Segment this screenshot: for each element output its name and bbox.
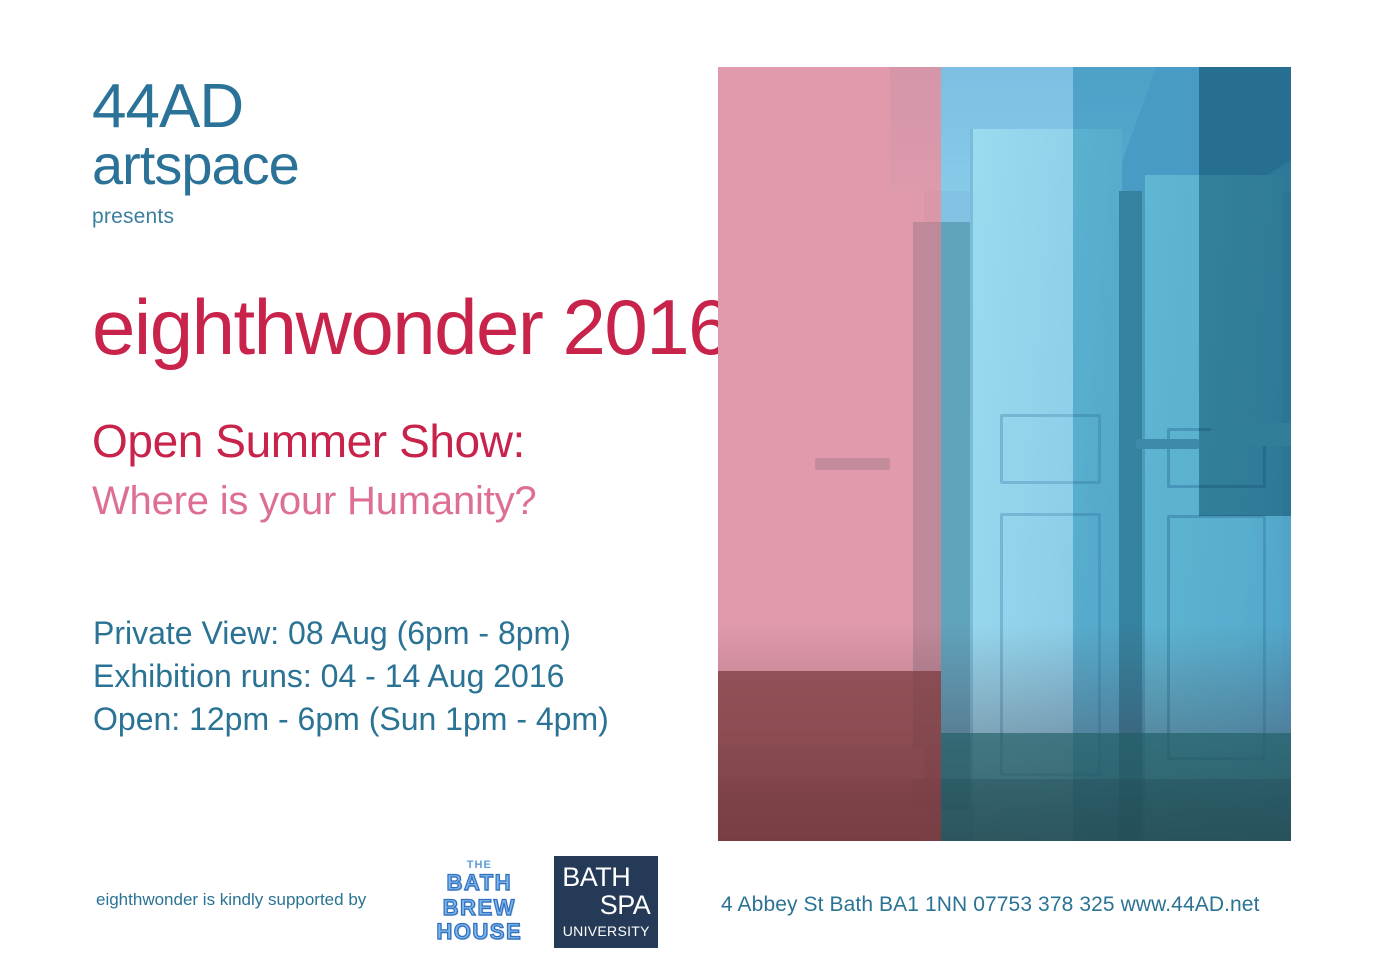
bbh-line-2: BREW [443,896,516,921]
title-block: eighthwonder 2016 Open Summer Show: Wher… [92,288,730,521]
brand-subtitle: artspace [92,136,299,195]
photo-tint-teal-bottom [941,733,1291,841]
photo-tint-maroon [718,671,941,841]
bsu-line-2: SPA [562,891,650,919]
detail-private-view: Private View: 08 Aug (6pm - 8pm) [93,612,609,655]
bbh-line-1: BATH [447,871,512,896]
page-subtitle-secondary: Where is your Humanity? [92,481,730,521]
detail-exhibition-runs: Exhibition runs: 04 - 14 Aug 2016 [93,655,609,698]
brand-name: 44AD [92,78,299,136]
bath-brew-house-logo: THE BATH BREW HOUSE [436,856,522,948]
bsu-line-3: UNIVERSITY [562,922,650,940]
event-details: Private View: 08 Aug (6pm - 8pm) Exhibit… [93,612,609,741]
poster-left-column: 44AD artspace presents eighthwonder 2016… [0,0,718,971]
poster-canvas: 44AD artspace presents eighthwonder 2016… [0,0,1400,971]
page-title: eighthwonder 2016 [92,288,730,366]
bbh-line-3: HOUSE [436,920,522,945]
footer-address: 4 Abbey St Bath BA1 1NN 07753 378 325 ww… [721,893,1260,917]
brand-block: 44AD artspace presents [92,78,299,229]
hero-photograph [718,67,1291,841]
bath-spa-university-logo: BATH SPA UNIVERSITY [554,856,658,948]
page-subtitle: Open Summer Show: [92,418,730,464]
bsu-line-1: BATH [562,864,650,891]
detail-open-hours: Open: 12pm - 6pm (Sun 1pm - 4pm) [93,698,609,741]
brand-presents-label: presents [92,205,299,229]
photo-tint-right-band [1199,67,1291,516]
supporters-label: eighthwonder is kindly supported by [96,890,366,914]
supporters-block: eighthwonder is kindly supported by THE … [96,856,658,948]
